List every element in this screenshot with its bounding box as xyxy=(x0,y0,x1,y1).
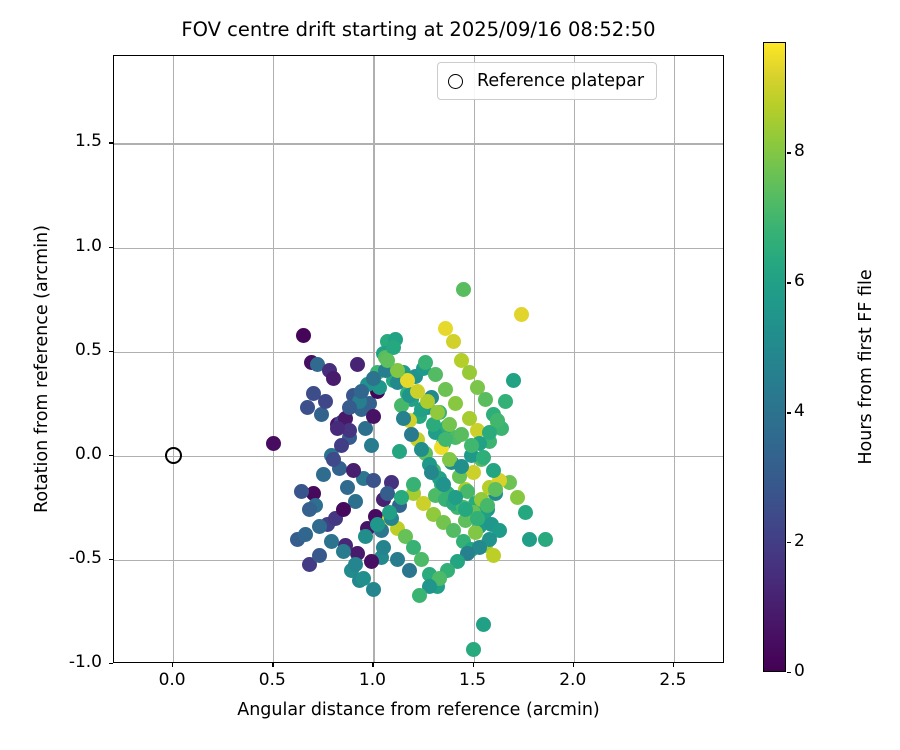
scatter-point xyxy=(370,517,385,532)
reference-platepar-marker xyxy=(165,447,182,464)
scatter-point xyxy=(302,502,317,517)
scatter-point xyxy=(380,353,395,368)
scatter-point xyxy=(366,409,381,424)
scatter-point xyxy=(414,552,429,567)
x-tick-mark-3 xyxy=(473,663,474,667)
scatter-point xyxy=(336,544,351,559)
scatter-point xyxy=(312,519,327,534)
colorbar-tick-label-2: 4 xyxy=(794,401,805,421)
scatter-point xyxy=(510,490,525,505)
x-tick-mark-2 xyxy=(372,663,373,667)
scatter-point xyxy=(296,328,311,343)
y-tick-mark-0 xyxy=(109,142,113,143)
scatter-point xyxy=(364,438,379,453)
gridline-vertical-2 xyxy=(373,56,374,662)
scatter-point xyxy=(428,367,443,382)
gridline-vertical-4 xyxy=(574,56,575,662)
x-tick-label-0: 0.0 xyxy=(142,670,202,690)
open-circle-icon xyxy=(448,74,463,89)
scatter-point xyxy=(350,357,365,372)
x-tick-label-1: 0.5 xyxy=(242,670,302,690)
y-axis-label: Rotation from reference (arcmin) xyxy=(32,199,52,539)
scatter-point xyxy=(476,617,491,632)
x-tick-label-5: 2.5 xyxy=(643,670,703,690)
x-tick-label-2: 1.0 xyxy=(342,670,402,690)
scatter-point xyxy=(366,582,381,597)
scatter-point xyxy=(478,392,493,407)
scatter-point xyxy=(380,486,395,501)
scatter-point xyxy=(518,505,533,520)
scatter-point xyxy=(334,438,349,453)
scatter-point xyxy=(266,436,281,451)
y-tick-label-5: -1.0 xyxy=(40,652,102,672)
figure: FOV centre drift starting at 2025/09/16 … xyxy=(0,0,900,750)
scatter-point xyxy=(354,384,369,399)
scatter-point xyxy=(316,467,331,482)
scatter-point xyxy=(312,548,327,563)
scatter-point xyxy=(298,527,313,542)
y-tick-mark-4 xyxy=(109,559,113,560)
colorbar-tick-mark-0 xyxy=(787,672,791,673)
scatter-point xyxy=(442,417,457,432)
scatter-point xyxy=(300,400,315,415)
scatter-point xyxy=(414,442,429,457)
colorbar-tick-label-3: 6 xyxy=(794,271,805,291)
scatter-point xyxy=(456,282,471,297)
scatter-point xyxy=(382,505,397,520)
colorbar-label: Hours from first FF file xyxy=(856,207,876,527)
scatter-point xyxy=(346,463,361,478)
scatter-point xyxy=(424,465,439,480)
colorbar-gradient xyxy=(764,43,785,671)
scatter-point xyxy=(402,563,417,578)
scatter-point xyxy=(326,371,341,386)
scatter-point xyxy=(392,444,407,459)
scatter-point xyxy=(294,484,309,499)
plot-area xyxy=(113,55,724,663)
scatter-point xyxy=(488,482,503,497)
legend-label: Reference platepar xyxy=(477,71,644,91)
y-tick-mark-2 xyxy=(109,351,113,352)
colorbar-tick-label-4: 8 xyxy=(794,141,805,161)
colorbar-tick-mark-1 xyxy=(787,542,791,543)
scatter-point xyxy=(506,373,521,388)
gridline-horizontal-0 xyxy=(114,143,723,144)
x-tick-mark-1 xyxy=(272,663,273,667)
scatter-point xyxy=(358,529,373,544)
scatter-point xyxy=(466,642,481,657)
scatter-point xyxy=(340,480,355,495)
x-tick-mark-4 xyxy=(573,663,574,667)
scatter-point xyxy=(498,394,513,409)
y-tick-mark-3 xyxy=(109,455,113,456)
scatter-point xyxy=(438,432,453,447)
scatter-point xyxy=(394,490,409,505)
legend: Reference platepar xyxy=(437,62,657,100)
gridline-vertical-5 xyxy=(674,56,675,662)
x-tick-label-4: 2.0 xyxy=(543,670,603,690)
scatter-point xyxy=(522,532,537,547)
y-tick-label-0: 1.5 xyxy=(40,131,102,151)
y-tick-mark-1 xyxy=(109,247,113,248)
scatter-point xyxy=(486,463,501,478)
scatter-point xyxy=(396,411,411,426)
x-tick-mark-5 xyxy=(673,663,674,667)
scatter-point xyxy=(448,396,463,411)
scatter-point xyxy=(330,421,345,436)
colorbar-tick-mark-3 xyxy=(787,282,791,283)
scatter-point xyxy=(462,365,477,380)
scatter-point xyxy=(446,334,461,349)
colorbar-tick-label-0: 0 xyxy=(794,661,805,681)
colorbar xyxy=(763,42,786,672)
gridline-vertical-3 xyxy=(474,56,475,662)
page-title: FOV centre drift starting at 2025/09/16 … xyxy=(113,18,724,41)
scatter-point xyxy=(412,588,427,603)
scatter-point xyxy=(438,382,453,397)
scatter-point xyxy=(490,413,505,428)
scatter-point xyxy=(538,532,553,547)
x-axis-label: Angular distance from reference (arcmin) xyxy=(113,700,724,720)
x-tick-mark-0 xyxy=(172,663,173,667)
colorbar-tick-label-1: 2 xyxy=(794,531,805,551)
colorbar-tick-mark-4 xyxy=(787,152,791,153)
y-tick-mark-5 xyxy=(109,663,113,664)
scatter-point xyxy=(376,540,391,555)
scatter-point xyxy=(366,473,381,488)
y-tick-label-4: -0.5 xyxy=(40,548,102,568)
gridline-vertical-0 xyxy=(173,56,174,662)
gridline-horizontal-1 xyxy=(114,248,723,249)
scatter-point xyxy=(336,502,351,517)
colorbar-tick-mark-2 xyxy=(787,412,791,413)
x-tick-label-3: 1.5 xyxy=(443,670,503,690)
scatter-point xyxy=(364,554,379,569)
gridline-vertical-1 xyxy=(273,56,274,662)
gridline-horizontal-2 xyxy=(114,352,723,353)
scatter-point xyxy=(348,557,363,572)
scatter-point xyxy=(470,511,485,526)
scatter-point xyxy=(318,394,333,409)
scatter-point xyxy=(514,307,529,322)
